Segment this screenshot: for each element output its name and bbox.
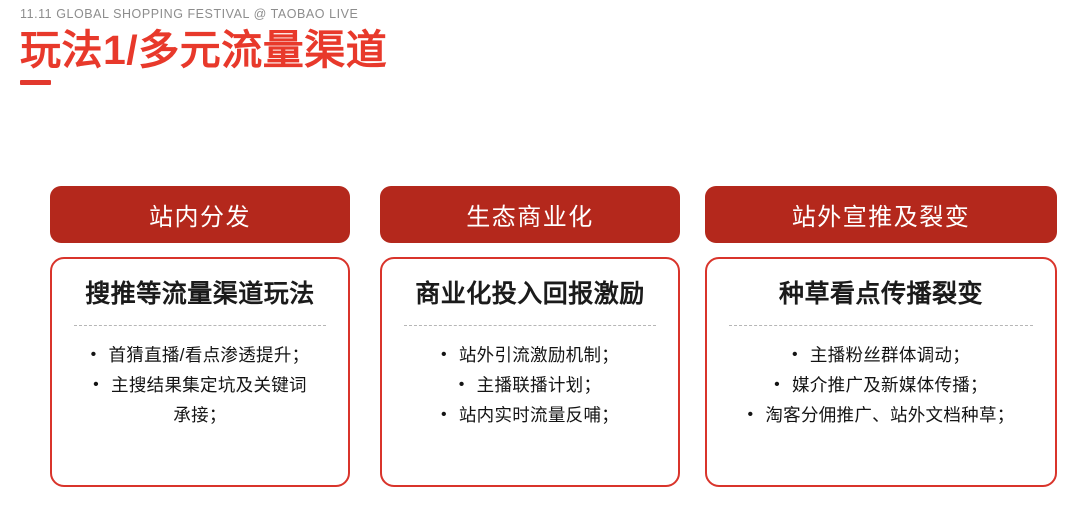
column-2-card-body: 商业化投入回报激励 •站外引流激励机制； •主播联播计划； •站内实时流量反哺； [380,257,680,487]
list-item-text: 主播联播计划； [477,375,602,395]
list-item: •主播联播计划； [392,370,668,400]
eyebrow-text: 11.11 GLOBAL SHOPPING FESTIVAL @ TAOBAO … [20,6,1060,22]
list-item-text: 媒介推广及新媒体传播； [792,375,988,395]
bullet-marker-icon: • [441,340,447,370]
content-columns: 站内分发 搜推等流量渠道玩法 •首猜直播/看点渗透提升； •主搜结果集定坑及关键… [50,186,1057,487]
column-2-divider [404,325,656,326]
column-1-card-body: 搜推等流量渠道玩法 •首猜直播/看点渗透提升； •主搜结果集定坑及关键词 承接； [50,257,350,487]
bullet-marker-icon: • [459,370,465,400]
bullet-marker-icon: • [792,340,798,370]
list-item: •主搜结果集定坑及关键词 [62,370,338,400]
bullet-marker-icon: • [93,370,99,400]
list-item-text: 承接； [173,405,226,425]
channel-column-3: 站外宣推及裂变 种草看点传播裂变 •主播粉丝群体调动； •媒介推广及新媒体传播；… [705,186,1057,487]
list-item-text: 淘客分佣推广、站外文档种草； [765,405,1014,425]
list-item-continuation: 承接； [62,400,338,430]
slide-header: 11.11 GLOBAL SHOPPING FESTIVAL @ TAOBAO … [20,6,1060,85]
column-2-header-pill[interactable]: 生态商业化 [380,186,680,243]
column-2-bullet-list: •站外引流激励机制； •主播联播计划； •站内实时流量反哺； [392,340,668,430]
list-item: •首猜直播/看点渗透提升； [62,340,338,370]
list-item: •媒介推广及新媒体传播； [717,370,1045,400]
bullet-marker-icon: • [91,340,97,370]
column-1-body-title: 搜推等流量渠道玩法 [62,277,338,311]
list-item-text: 首猜直播/看点渗透提升； [108,345,309,365]
page-title: 玩法1/多元流量渠道 [20,26,1060,74]
column-3-card-body: 种草看点传播裂变 •主播粉丝群体调动； •媒介推广及新媒体传播； •淘客分佣推广… [705,257,1057,487]
list-item: •主播粉丝群体调动； [717,340,1045,370]
column-1-header-label: 站内分发 [149,197,251,232]
column-1-header-pill[interactable]: 站内分发 [50,186,350,243]
channel-column-1: 站内分发 搜推等流量渠道玩法 •首猜直播/看点渗透提升； •主搜结果集定坑及关键… [50,186,350,487]
list-item-text: 站外引流激励机制； [459,345,619,365]
bullet-marker-icon: • [774,370,780,400]
channel-column-2: 生态商业化 商业化投入回报激励 •站外引流激励机制； •主播联播计划； •站内实… [380,186,680,487]
column-1-divider [74,325,326,326]
column-2-header-label: 生态商业化 [466,197,594,232]
column-3-header-label: 站外宣推及裂变 [792,197,971,232]
column-3-body-title: 种草看点传播裂变 [717,277,1045,311]
list-item-text: 站内实时流量反哺； [459,405,619,425]
column-3-bullet-list: •主播粉丝群体调动； •媒介推广及新媒体传播； •淘客分佣推广、站外文档种草； [717,340,1045,430]
column-2-body-title: 商业化投入回报激励 [392,277,668,311]
column-3-header-pill[interactable]: 站外宣推及裂变 [705,186,1057,243]
bullet-marker-icon: • [747,400,753,430]
title-underline-accent [20,80,51,85]
list-item-text: 主搜结果集定坑及关键词 [111,375,307,395]
column-1-bullet-list: •首猜直播/看点渗透提升； •主搜结果集定坑及关键词 承接； [62,340,338,430]
column-3-divider [729,325,1033,326]
list-item: •淘客分佣推广、站外文档种草； [717,400,1045,430]
bullet-marker-icon: • [441,400,447,430]
list-item: •站外引流激励机制； [392,340,668,370]
list-item: •站内实时流量反哺； [392,400,668,430]
list-item-text: 主播粉丝群体调动； [810,345,970,365]
